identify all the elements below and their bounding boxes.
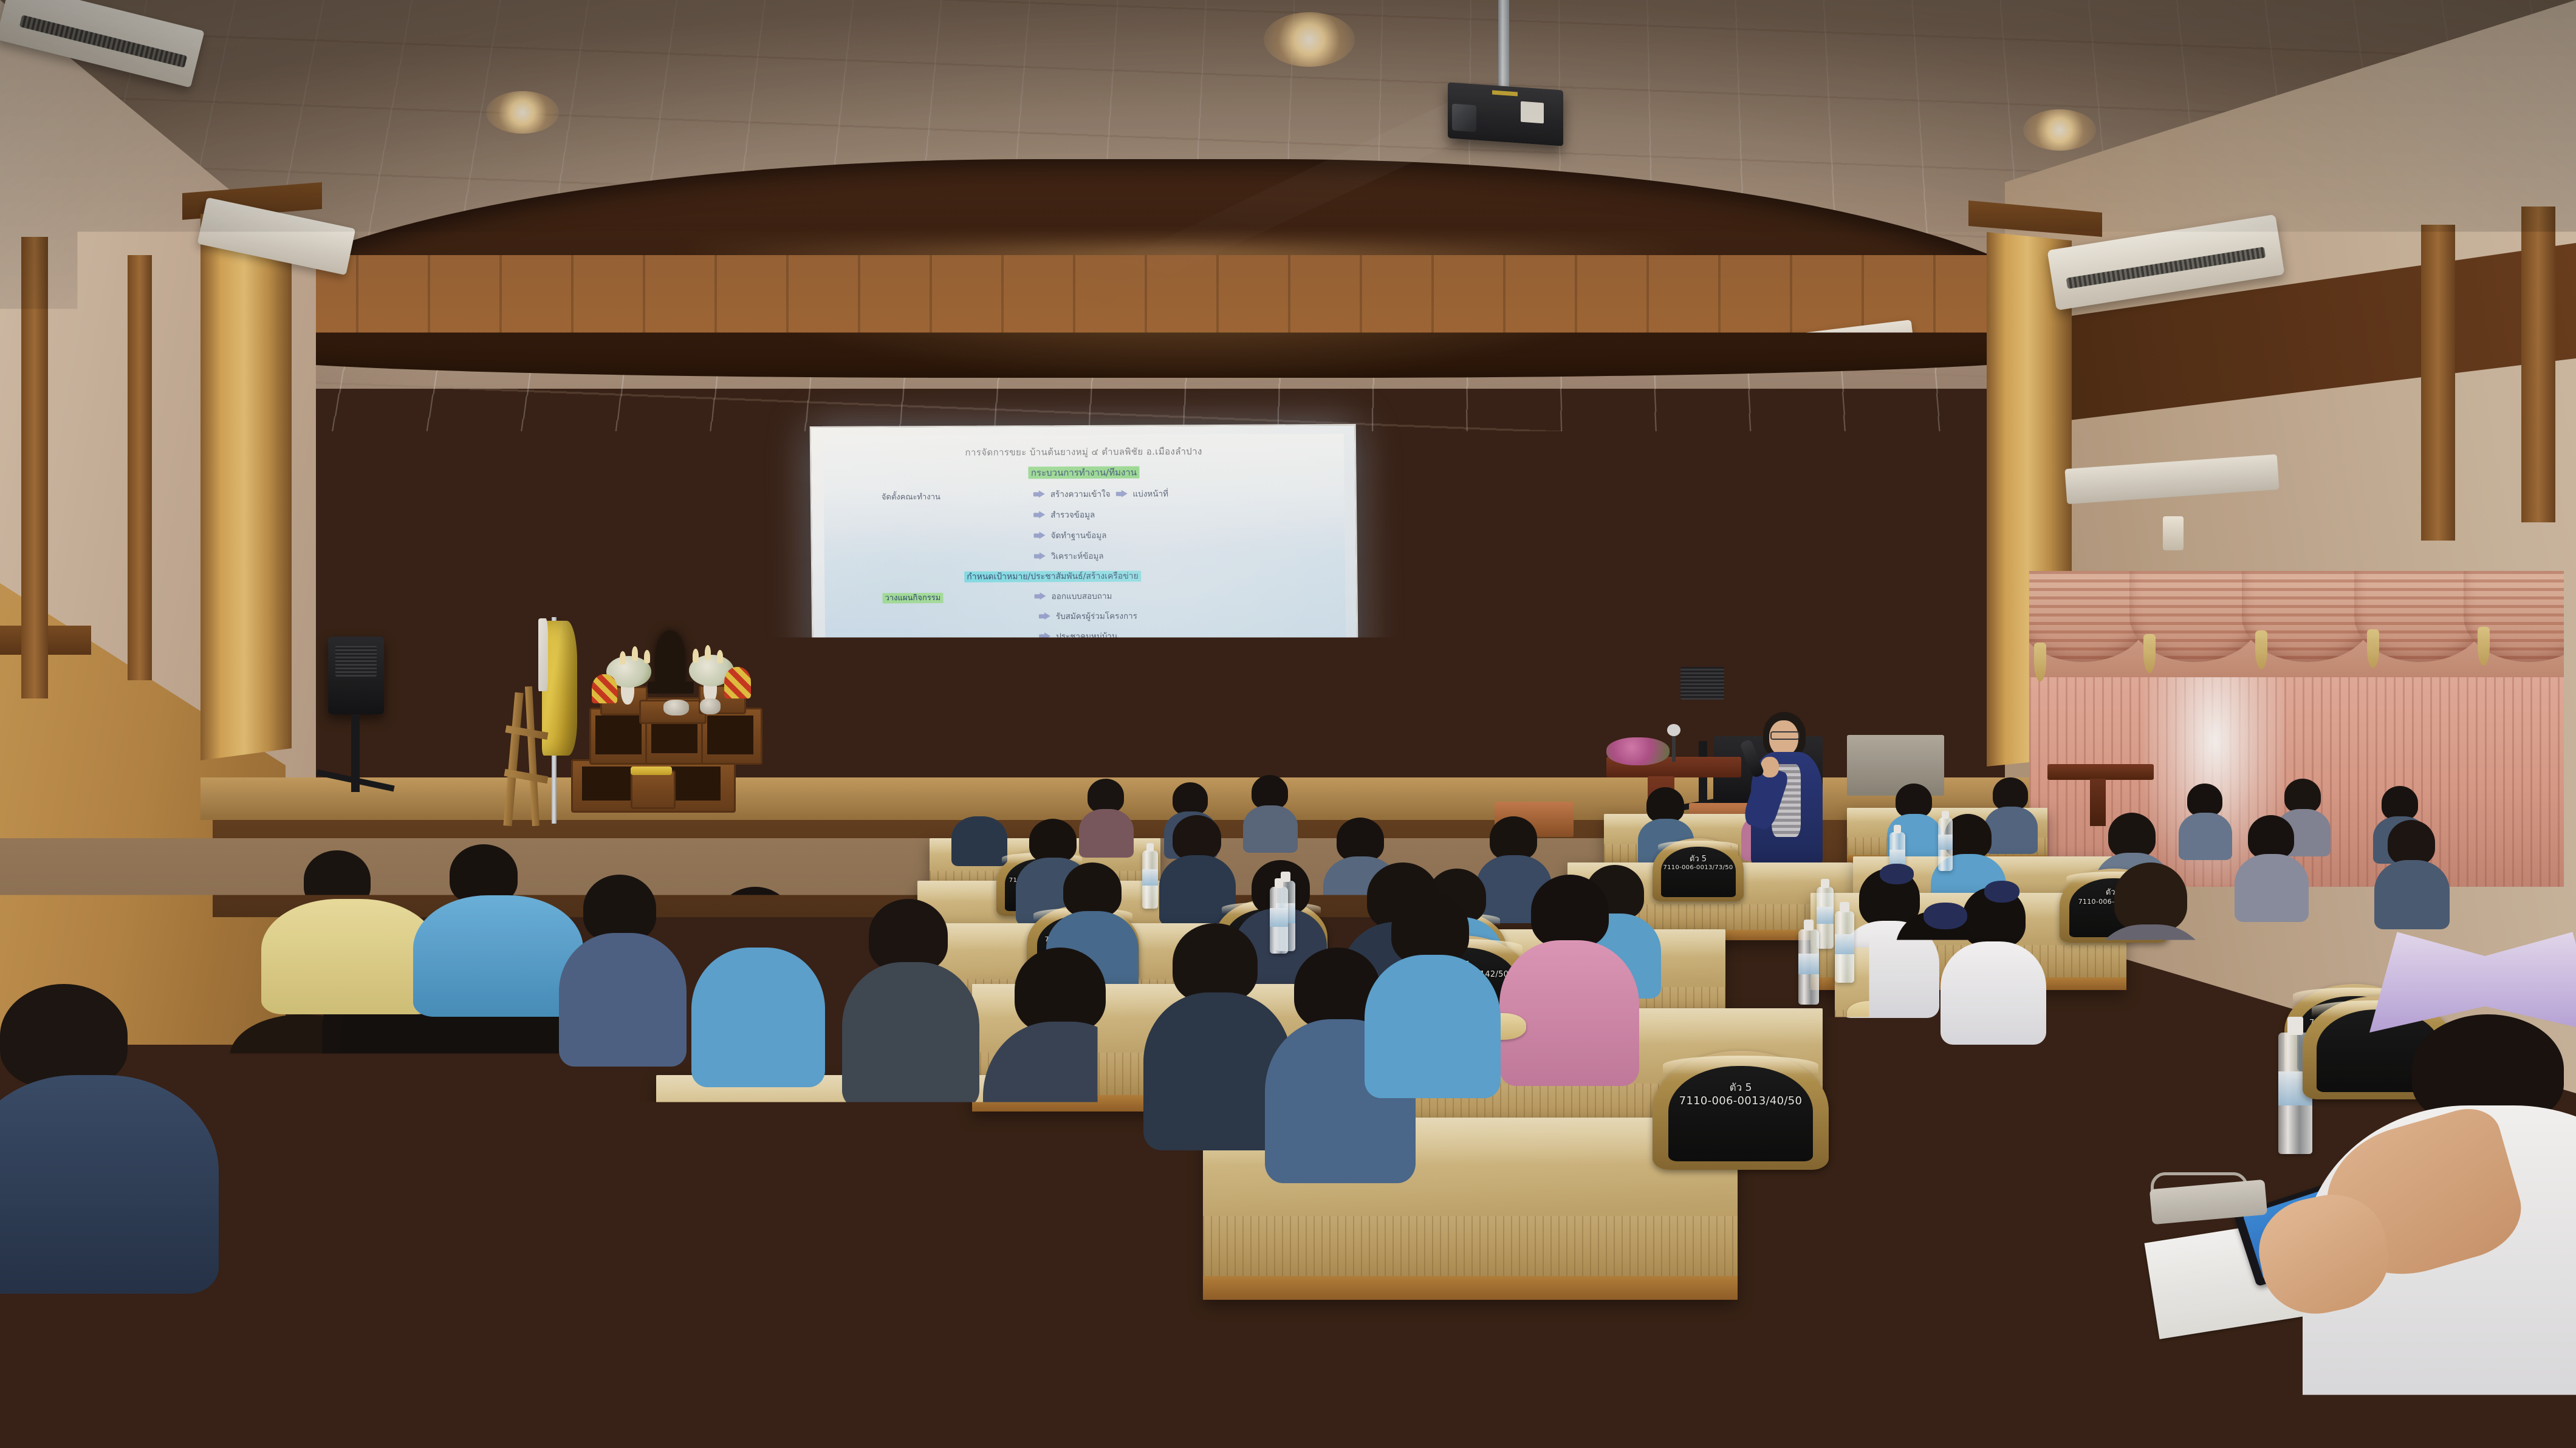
slide-section1-heading: กระบวนการทำงาน/ทีมงาน bbox=[1029, 466, 1139, 479]
attendee-navy-shirt bbox=[0, 1075, 219, 1294]
slide-banner-cyan: กำหนดเป้าหมาย/ประชาสัมพันธ์/สร้างเครือข่… bbox=[964, 571, 1141, 582]
hair-bow bbox=[1880, 864, 1914, 884]
curtain-tassel bbox=[2143, 634, 2156, 673]
wall-vertical-strip bbox=[128, 255, 152, 680]
altar-yellow-cushion bbox=[631, 767, 672, 775]
decorative-side-table-leg bbox=[2090, 779, 2106, 826]
altar-kneeler bbox=[631, 770, 676, 809]
slide-row-text: สำรวจข้อมูล bbox=[1050, 508, 1095, 521]
wall-vertical-strip bbox=[2521, 207, 2555, 522]
decor-flower bbox=[1361, 656, 1383, 677]
podium-microphone-stand bbox=[1672, 733, 1676, 762]
projected-slide: การจัดการขยะ บ้านต้นยางหมู่ ๔ ตำบลพิชัย … bbox=[823, 434, 1348, 785]
chair[interactable]: ตัว 5 7110-006-0013/127/50 bbox=[2017, 1008, 2169, 1112]
hair-bow bbox=[1984, 881, 2019, 903]
wall-speaker bbox=[1853, 407, 1888, 442]
chair[interactable]: ตัว 5 7110-006-0013/73/50 bbox=[1653, 838, 1744, 901]
slide-row-text: ขอรับบริจาคขยะออมบุญ bbox=[1086, 717, 1173, 731]
wall-speaker bbox=[1732, 425, 1769, 463]
slide-row-text: ประชาคมหมู่บ้าน bbox=[1056, 629, 1117, 643]
presenter-hand bbox=[1761, 757, 1779, 777]
pa-speaker-grille bbox=[335, 645, 377, 677]
altar-candle bbox=[644, 650, 650, 663]
av-rack bbox=[1847, 735, 1944, 796]
slide-row: กำหนดกฎกติกาข่วมกัน bbox=[1040, 669, 1139, 683]
ceiling-downlight bbox=[1264, 12, 1355, 67]
slide-row: สร้างความเข้าใจ แบ่งหน้าที่ bbox=[1033, 487, 1168, 500]
projector-mount-pole bbox=[1498, 0, 1509, 92]
altar-tier-right-inner bbox=[707, 715, 753, 754]
slide-row: รับสมัครผู้ร่วมโครงการ bbox=[1039, 609, 1137, 623]
decor-butterfly bbox=[1358, 601, 1385, 623]
wall-vertical-strip bbox=[21, 237, 48, 698]
slide-row-text: ขอรับบริจาคขยะรีไซเคิล bbox=[1086, 751, 1173, 765]
water-bottle[interactable] bbox=[1798, 929, 1819, 1005]
arrow-icon bbox=[1033, 490, 1045, 498]
water-bottle[interactable] bbox=[1938, 818, 1953, 871]
slide-row: ประชาคมหมู่บ้าน bbox=[1039, 629, 1117, 643]
arrow-icon bbox=[1069, 720, 1081, 728]
conference-hall-photo: VERTEX การจัดการขยะ บ้านต้นยางหมู่ ๔ ตำบ… bbox=[0, 0, 2576, 1448]
slide-row-text: จัดทำฐานข้อมูล bbox=[1050, 528, 1106, 542]
curtain-tassel bbox=[2478, 627, 2490, 666]
arrow-icon bbox=[1039, 632, 1050, 640]
thai-ceremonial-umbrella bbox=[592, 674, 617, 703]
arrow-icon bbox=[1039, 612, 1050, 620]
slide-row-text: กำหนดกฎกติกาข่วมกัน bbox=[1057, 669, 1139, 683]
slide-row-extra: แบ่งหน้าที่ bbox=[1132, 487, 1168, 500]
arrow-icon bbox=[1033, 531, 1045, 539]
hair-bow bbox=[1923, 903, 1967, 929]
slide-row-text: คืนข้อมูลสถานการณ์ bbox=[1056, 649, 1130, 663]
arrow-icon bbox=[1069, 738, 1081, 746]
slide-header-text: การจัดการขยะ บ้านต้นยางหมู่ ๔ ตำบลพิชัย … bbox=[823, 443, 1344, 460]
buddha-statue bbox=[655, 630, 685, 689]
ceiling-downlight bbox=[2023, 109, 2096, 151]
arrow-icon bbox=[1040, 672, 1051, 680]
slide-row: รณรงค์การคัดแยกขยะครัวเรือน bbox=[1069, 699, 1199, 713]
podium-flower-arrangement bbox=[1606, 737, 1670, 765]
slide-row-text: วิเคราะห์ข้อมูล bbox=[1051, 549, 1104, 562]
slide-row: คืนข้อมูลสถานการณ์ bbox=[1039, 649, 1130, 663]
arrow-icon bbox=[1033, 511, 1045, 519]
altar-tier-left-inner bbox=[595, 715, 642, 754]
slide-row: ขอรับบริจาคขยะรีไซเคิล bbox=[1069, 751, 1173, 765]
slide-label-left-3: ดำเนินกิจกรรมคัดแยกขยะ bbox=[882, 702, 973, 713]
slide-label-left-1: จัดตั้งคณะทำงาน bbox=[882, 490, 940, 503]
pa-speaker-grille bbox=[1680, 667, 1724, 700]
attendee-hair bbox=[0, 984, 128, 1087]
screen-brand-label: VERTEX bbox=[1308, 410, 1353, 423]
slide-row-text: อัดก้อนขยะ(พลาสติก) bbox=[1086, 734, 1163, 748]
altar-candle bbox=[693, 649, 699, 663]
slide-label-left-2: วางแผนกิจกรรม bbox=[883, 593, 944, 603]
slide-row: จัดทำฐานข้อมูล bbox=[1033, 528, 1106, 542]
wall-vertical-strip bbox=[2421, 225, 2455, 541]
slide-row-text: สร้างความเข้าใจ bbox=[1050, 487, 1111, 500]
water-bottle[interactable] bbox=[1270, 887, 1288, 954]
projector-asset-label bbox=[1521, 101, 1544, 124]
buddha-pedestal bbox=[648, 681, 694, 694]
slide-row: สำรวจข้อมูล bbox=[1033, 508, 1095, 521]
thai-ceremonial-umbrella bbox=[724, 667, 751, 698]
altar-offering-bowl bbox=[663, 700, 689, 715]
altar-offering-bowl bbox=[700, 698, 721, 714]
slide-row: วิเคราะห์ข้อมูล bbox=[1034, 549, 1104, 562]
slide-row-text: ออกแบบสอบถาม bbox=[1051, 589, 1112, 603]
decor-flower bbox=[751, 584, 780, 610]
wall-light-sconce bbox=[2163, 516, 2184, 550]
altar-candle bbox=[632, 646, 638, 661]
slide-label-left-6: ตั้งกองทุนวัสดุรีไซเคิล bbox=[883, 770, 959, 781]
curtain-tassel bbox=[2255, 630, 2267, 669]
slide-row-text: รณรงค์การคัดแยกขยะครัวเรือน bbox=[1086, 699, 1199, 713]
water-bottle[interactable] bbox=[1835, 911, 1854, 983]
arrow-icon bbox=[1115, 490, 1127, 497]
water-bottle[interactable] bbox=[1142, 850, 1158, 909]
white-flag-edge bbox=[538, 618, 548, 691]
slide-row-text: รับสมัครผู้ร่วมโครงการ bbox=[1056, 609, 1137, 623]
attendee-collar bbox=[365, 1127, 535, 1170]
curtain-tassel bbox=[2034, 643, 2046, 681]
arrow-icon bbox=[1040, 652, 1051, 660]
arrow-icon bbox=[1070, 772, 1081, 780]
decor-flower bbox=[1362, 534, 1386, 558]
arrow-icon bbox=[1034, 552, 1046, 560]
projection-screen: การจัดการขยะ บ้านต้นยางหมู่ ๔ ตำบลพิชัย … bbox=[810, 424, 1360, 818]
altar-candle bbox=[717, 650, 723, 663]
altar-candle bbox=[620, 651, 626, 664]
arrow-icon bbox=[1069, 703, 1080, 711]
ceiling-downlight bbox=[486, 91, 559, 134]
slide-row: กำหนดปฏิทินรับซื้อขยะ bbox=[1070, 768, 1170, 782]
arrow-icon bbox=[1069, 755, 1081, 763]
slide-label-left-5: จัดตั้งธนาคารวัสดุรีไซเคิล bbox=[882, 753, 972, 764]
chair[interactable]: ตัว 5 7110-006-0013/40/50 bbox=[1653, 1051, 1829, 1170]
backdrop-panel-right bbox=[1352, 475, 1413, 827]
projector-lens bbox=[1452, 104, 1476, 132]
chair[interactable]: ตัว 5 7110-006-0013/125/50 bbox=[717, 1112, 917, 1248]
slide-row: ออกแบบสอบถาม bbox=[1034, 589, 1112, 603]
decor-flower bbox=[748, 496, 776, 522]
arrow-icon bbox=[1035, 592, 1046, 600]
presenter-glasses bbox=[1770, 731, 1800, 740]
water-bottle[interactable] bbox=[1817, 887, 1834, 949]
altar-candle bbox=[705, 645, 711, 660]
decorative-side-table bbox=[2047, 764, 2154, 780]
slide-label-left-4: จัดตั้งกองทุนขยะออมบุญ bbox=[882, 719, 967, 730]
podium-microphone-head bbox=[1667, 724, 1680, 736]
slide-row: อัดก้อนขยะ(พลาสติก) bbox=[1069, 734, 1163, 748]
slide-row: ขอรับบริจาคขยะออมบุญ bbox=[1069, 717, 1173, 731]
curtain-tassel bbox=[2367, 629, 2379, 668]
pilaster-column bbox=[200, 214, 292, 760]
